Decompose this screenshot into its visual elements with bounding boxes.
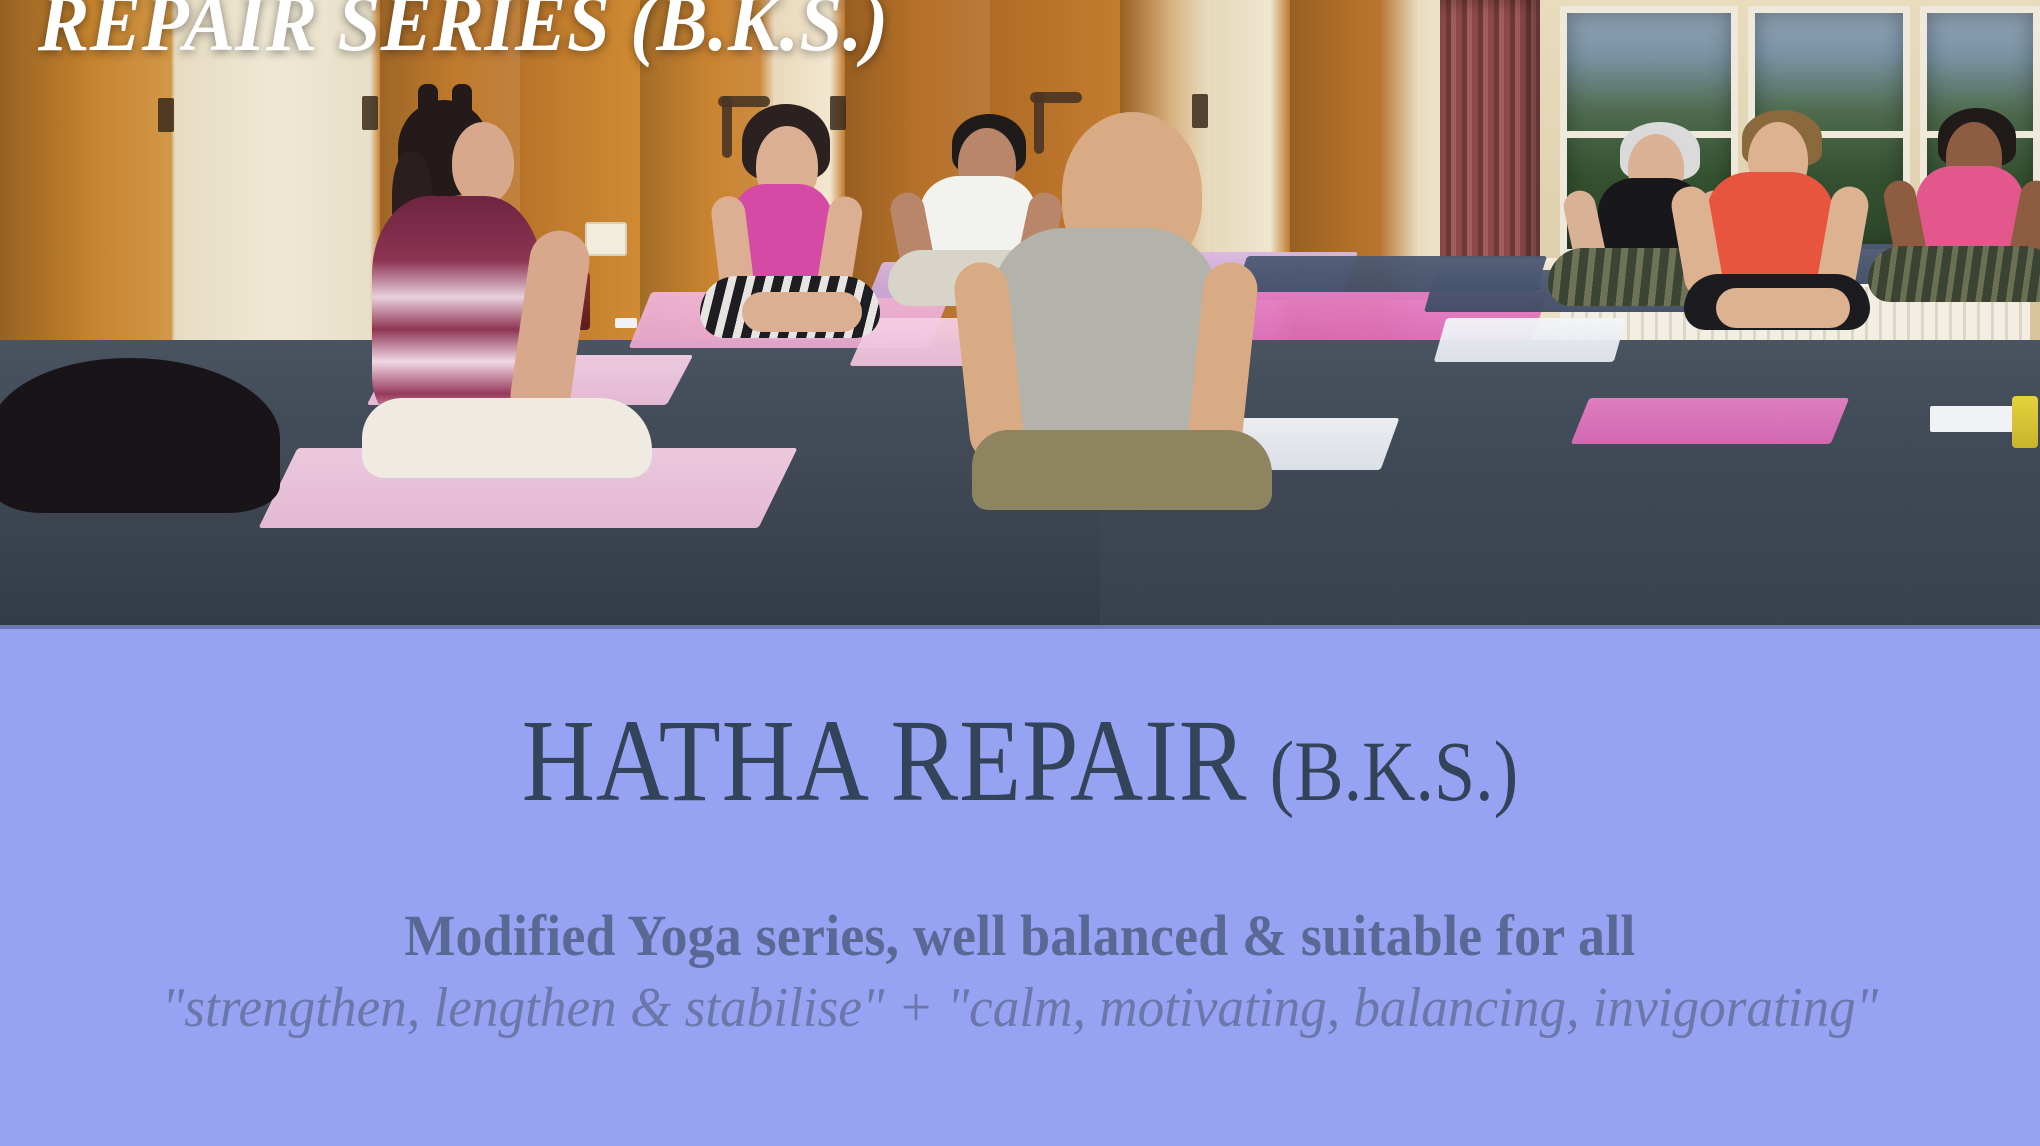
door-handle-icon [722,96,732,158]
yoga-mat [1434,318,1627,362]
photo-overlay-title: REPAIR SERIES (B.K.S.) [38,0,889,64]
page-title-suffix: (B.K.S.) [1247,723,1518,819]
info-panel: HATHA REPAIR(B.K.S.) Modified Yoga serie… [0,625,2040,1146]
subtitle: Modified Yoga series, well balanced & su… [71,907,1968,965]
panel-divider [0,625,2040,629]
wall-socket-icon [585,222,627,256]
door-hinge-icon [830,96,846,130]
yoga-mat [1571,398,1850,444]
page-title: HATHA REPAIR(B.K.S.) [143,702,1897,820]
door-handle-icon [1034,92,1044,154]
page-title-main: HATHA REPAIR [522,695,1248,826]
door-hinge-icon [362,96,378,130]
yoga-class-photo: REPAIR SERIES (B.K.S.) [0,0,2040,625]
tagline-quote: "strengthen, lengthen & stabilise" + "ca… [51,980,1989,1036]
door-hinge-icon [158,98,174,132]
small-object [615,318,637,328]
yellow-prop [2012,396,2038,448]
curtain [1440,0,1540,290]
poster-page: REPAIR SERIES (B.K.S.) HATHA REPAIR(B.K.… [0,0,2040,1146]
door-hinge-icon [1192,94,1208,128]
